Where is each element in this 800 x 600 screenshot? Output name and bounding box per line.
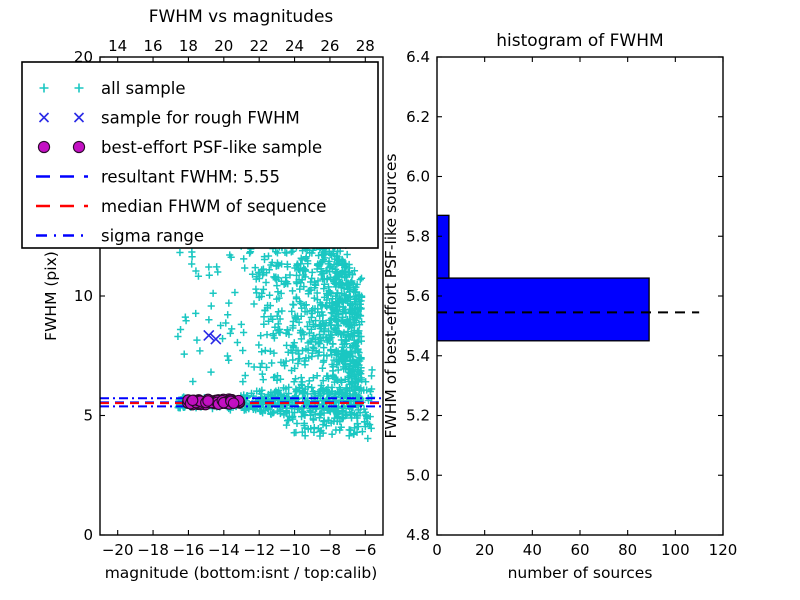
right-y-axis-label: FWHM of best-effort PSF-like sources [382,153,400,438]
left-y-axis-label: FWHM (pix) [42,251,60,341]
left-y-tick-label: 10 [74,287,93,305]
right-x-tick-label: 80 [618,541,637,559]
right-y-tick-label: 5.8 [406,227,430,245]
left-x-tick-label: −20 [102,541,134,559]
legend-item-label: resultant FWHM: 5.55 [101,168,280,187]
right-plot-title: histogram of FWHM [496,31,663,51]
circle-marker [228,398,238,408]
left-x-tick-label: −14 [208,541,240,559]
right-y-tick-label: 5.2 [406,407,430,425]
right-x-tick-label: 20 [475,541,494,559]
right-x-tick-label: 40 [523,541,542,559]
left-top-tick-label: 22 [250,37,269,55]
figure-canvas: −20−18−16−14−12−10−8−6 1416182022242628 … [0,0,800,600]
right-x-tick-label: 60 [570,541,589,559]
psf-like-points [182,394,244,410]
matplotlib-figure: −20−18−16−14−12−10−8−6 1416182022242628 … [0,0,800,600]
right-x-axis-label: number of sources [508,564,653,582]
right-y-tick-label: 6.0 [406,168,430,186]
circle-marker [187,395,197,405]
legend-item-label: sample for rough FWHM [101,109,300,128]
left-x-tick-label: −16 [173,541,205,559]
left-top-tick-label: 28 [356,37,375,55]
left-x-tick-label: −8 [319,541,341,559]
left-top-tick-label: 26 [320,37,339,55]
left-x-tick-label: −10 [279,541,311,559]
left-x-axis-label: magnitude (bottom:isnt / top:calib) [105,564,378,582]
left-x-tick-label: −18 [137,541,169,559]
left-y-tick-label: 0 [83,526,93,544]
left-top-tick-label: 24 [285,37,304,55]
circle-marker [73,141,84,152]
histogram-bar [437,278,649,341]
right-x-tick-label: 100 [661,541,690,559]
left-top-tick-label: 20 [214,37,233,55]
legend-item-label: best-effort PSF-like sample [101,138,322,157]
right-y-tick-label: 6.2 [406,108,430,126]
histogram-bar [437,215,449,278]
circle-marker [38,141,49,152]
legend-item-label: sigma range [101,227,204,246]
left-x-tick-label: −6 [354,541,376,559]
right-y-tick-label: 5.4 [406,347,430,365]
right-y-tick-label: 5.6 [406,287,430,305]
left-plot-title: FWHM vs magnitudes [149,7,334,27]
left-top-tick-label: 16 [144,37,163,55]
legend-box: all samplesample for rough FWHMbest-effo… [22,62,378,248]
left-x-tick-label: −12 [243,541,275,559]
right-y-tick-label: 4.8 [406,526,430,544]
right-x-tick-label: 0 [432,541,442,559]
left-top-tick-label: 14 [108,37,127,55]
left-y-tick-label: 5 [83,407,93,425]
legend-item-label: median FHWM of sequence [101,197,326,216]
left-top-tick-label: 18 [179,37,198,55]
legend-item-label: all sample [101,79,186,98]
circle-marker [203,396,213,406]
right-y-tick-label: 6.4 [406,48,430,66]
right-y-tick-label: 5.0 [406,466,430,484]
right-x-tick-label: 120 [709,541,738,559]
